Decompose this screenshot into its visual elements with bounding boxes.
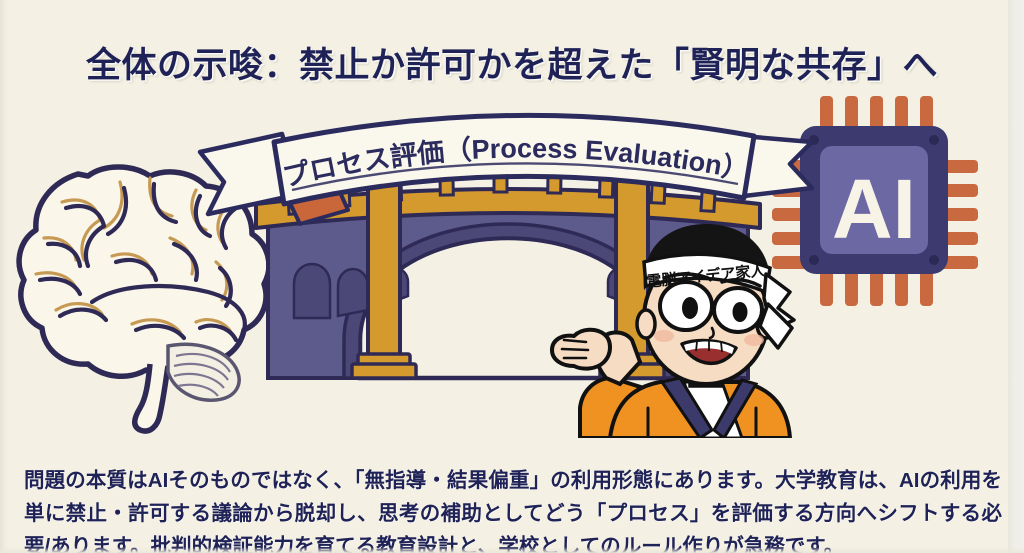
slide-root: 全体の示唆：禁止か許可かを超えた「賢明な共存」へ — [0, 0, 1024, 553]
ai-chip-label: AI — [832, 162, 916, 256]
page-edge-bottom-shading — [0, 547, 1024, 553]
summary-paragraph: 問題の本質はAIそのものではなく、「無指導・結果偏重」の利用形態にあります。大学… — [24, 464, 1002, 553]
page-edge-right-shading — [1008, 0, 1024, 553]
ai-chip-icon: AI — [772, 96, 978, 306]
illustration-stage: AI — [0, 78, 1024, 438]
